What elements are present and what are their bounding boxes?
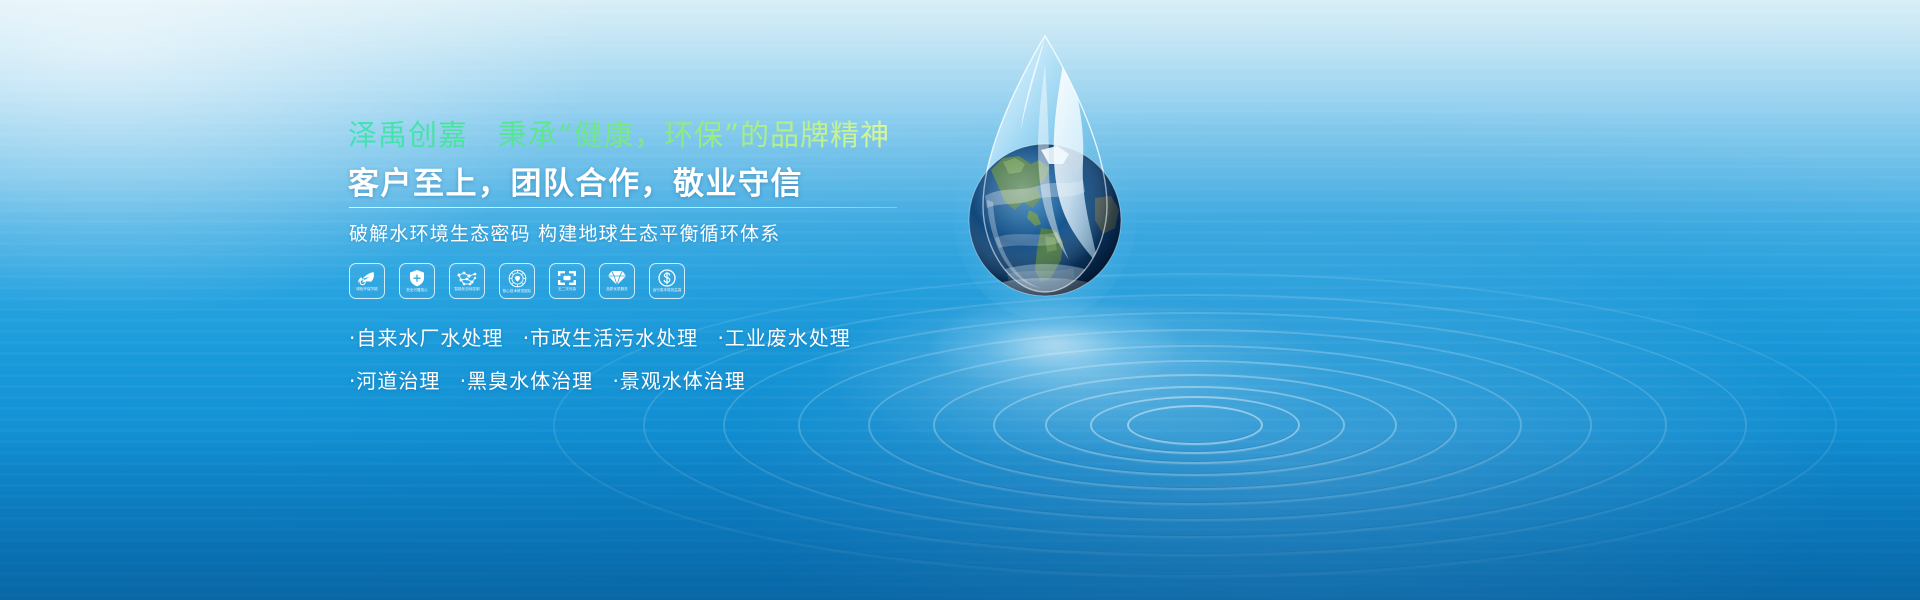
service-item[interactable]: ·黑臭水体治理 <box>460 369 593 393</box>
badge-label: 无二次污染 <box>551 287 583 291</box>
brain-gear-icon <box>508 269 527 288</box>
badge-shield-plus[interactable]: 安全可靠放心 <box>399 263 435 299</box>
water-droplet-earth-graphic <box>945 30 1145 330</box>
banner-subheadline: 客户至上，团队合作，敬业守信 <box>348 158 803 203</box>
badge-label: 绿色环保节能 <box>351 287 383 291</box>
badge-brain-gear[interactable]: 核心技术研发团队 <box>499 263 535 299</box>
molecule-node-icon <box>456 271 478 286</box>
badge-label: 运行成本低效益高 <box>651 288 683 292</box>
bracket-frame-icon <box>557 270 577 286</box>
banner-tagline: 破解水环境生态密码 构建地球生态平衡循环体系 <box>349 219 780 246</box>
service-row-2: ·河道治理 ·黑臭水体治理 ·景观水体治理 <box>349 365 863 394</box>
diamond-icon <box>607 270 627 286</box>
service-item[interactable]: ·自来水厂水处理 <box>349 326 503 350</box>
badge-label: 品质优质服务 <box>601 287 633 291</box>
badge-label: 智能化自动控制 <box>451 287 483 291</box>
hero-banner: 泽禹创嘉 秉承“健康，环保”的品牌精神 客户至上，团队合作，敬业守信 破解水环境… <box>0 0 1920 600</box>
badge-diamond[interactable]: 品质优质服务 <box>599 263 635 299</box>
dollar-circle-icon <box>658 269 676 287</box>
badge-molecule-node[interactable]: 智能化自动控制 <box>449 263 485 299</box>
shield-plus-icon <box>409 269 425 287</box>
divider-line <box>349 207 897 208</box>
badge-leaf-wing[interactable]: 绿色环保节能 <box>349 263 385 299</box>
service-item[interactable]: ·市政生活污水处理 <box>523 326 698 350</box>
banner-text-content: 泽禹创嘉 秉承“健康，环保”的品牌精神 客户至上，团队合作，敬业守信 破解水环境… <box>348 0 968 600</box>
badge-dollar-circle[interactable]: 运行成本低效益高 <box>649 263 685 299</box>
service-item[interactable]: ·景观水体治理 <box>612 369 745 393</box>
badge-label: 安全可靠放心 <box>401 288 433 292</box>
banner-headline: 泽禹创嘉 秉承“健康，环保”的品牌精神 <box>348 112 890 154</box>
service-item[interactable]: ·河道治理 <box>349 369 440 393</box>
service-list: ·自来水厂水处理 ·市政生活污水处理 ·工业废水处理 ·河道治理 ·黑臭水体治理… <box>349 322 863 408</box>
service-item[interactable]: ·工业废水处理 <box>717 326 850 350</box>
service-row-1: ·自来水厂水处理 ·市政生活污水处理 ·工业废水处理 <box>349 322 863 351</box>
badge-bracket-frame[interactable]: 无二次污染 <box>549 263 585 299</box>
feature-badge-row: 绿色环保节能 安全可靠放心 <box>349 263 685 299</box>
leaf-wing-icon <box>357 271 377 286</box>
badge-label: 核心技术研发团队 <box>501 289 533 293</box>
